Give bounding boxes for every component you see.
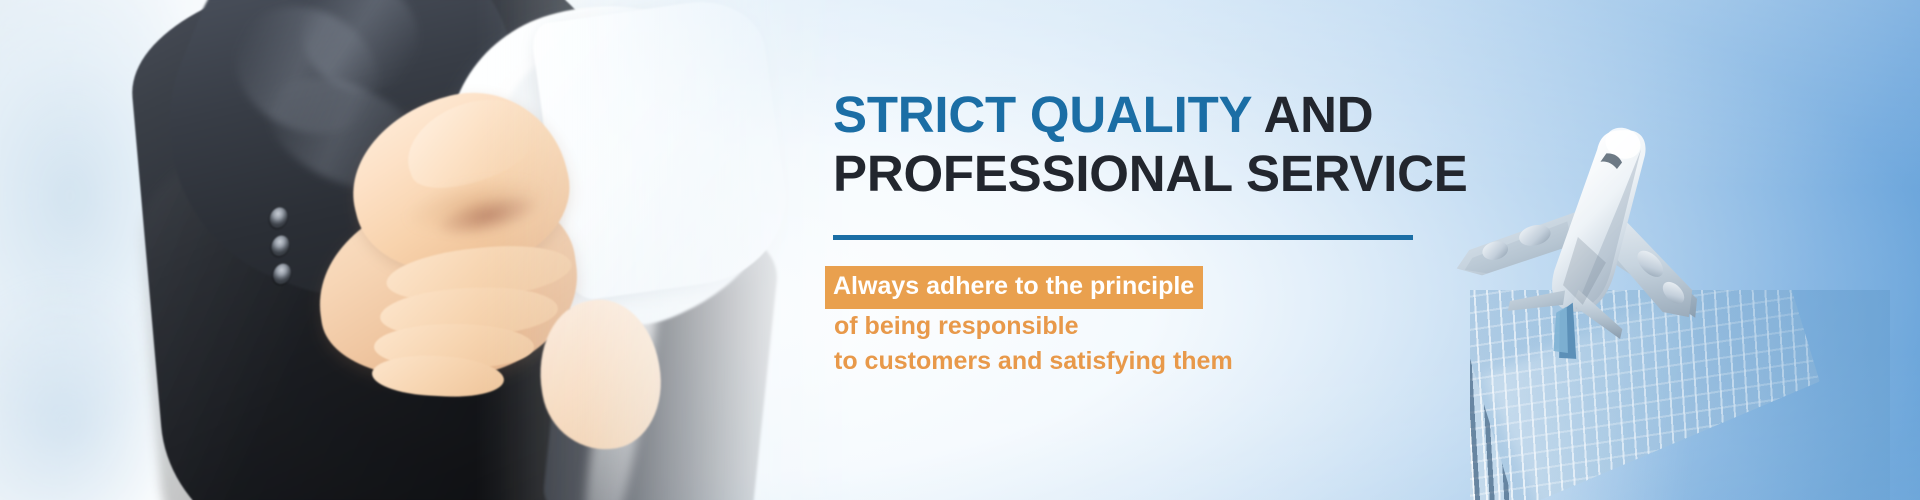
subtitle-block: Always adhere to the principle of being …: [833, 266, 1533, 380]
subtitle-line-3: to customers and satisfying them: [833, 344, 1533, 380]
hero-banner: STRICT QUALITY AND PROFESSIONAL SERVICE …: [0, 0, 1920, 500]
headline-line-1: STRICT QUALITY AND: [833, 86, 1533, 143]
subtitle-line-1-highlight: Always adhere to the principle: [825, 266, 1203, 309]
subtitle-line-1-wrap: Always adhere to the principle: [833, 266, 1533, 309]
business-handshake-photo: [0, 0, 860, 500]
headline-blue-text: STRICT QUALITY: [833, 86, 1251, 143]
headline-dark-text: AND: [1251, 86, 1373, 143]
headline-line-2: PROFESSIONAL SERVICE: [833, 145, 1533, 202]
subtitle-line-2: of being responsible: [833, 309, 1533, 345]
headline-and-word: AND: [1264, 86, 1374, 143]
photo-soft-focus-overlay: [0, 0, 860, 500]
horizontal-rule: [833, 235, 1413, 240]
banner-text-block: STRICT QUALITY AND PROFESSIONAL SERVICE …: [833, 86, 1533, 380]
